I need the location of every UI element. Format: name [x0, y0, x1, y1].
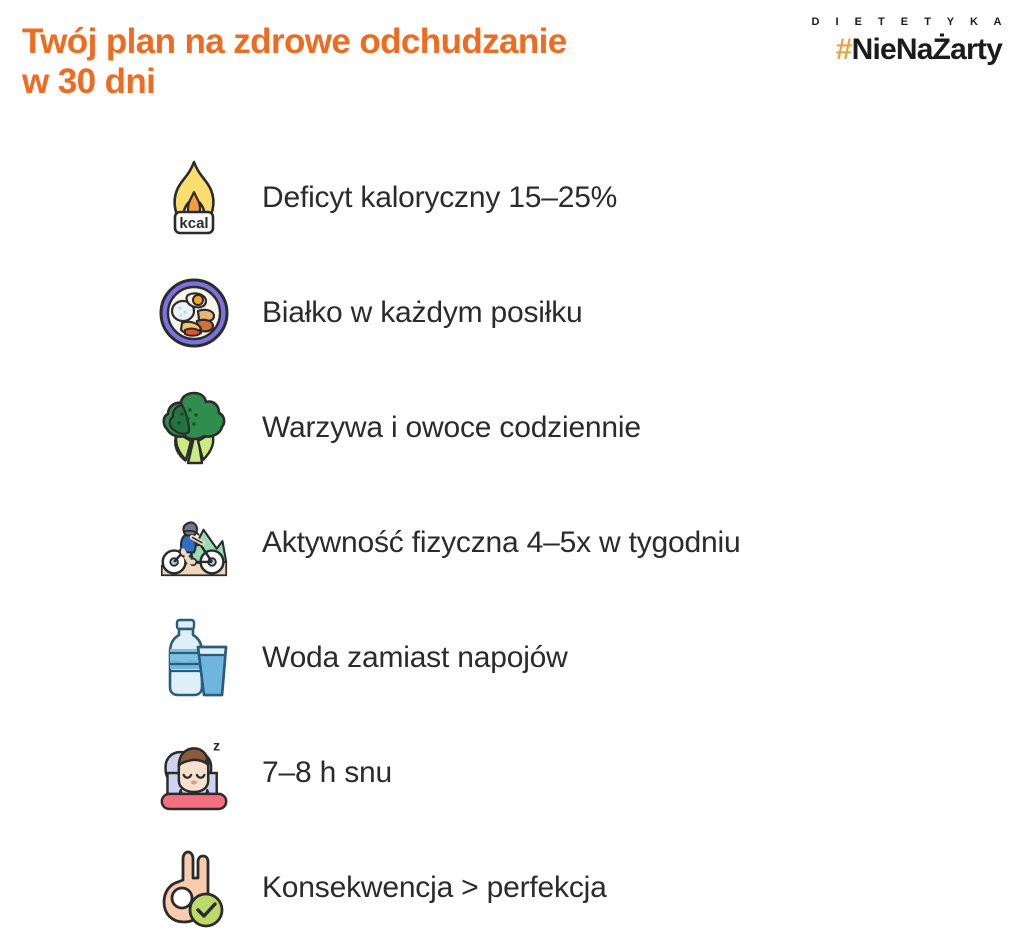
list-item: z z 7–8 h snu — [0, 715, 1024, 830]
ok-hand-check-icon — [158, 847, 230, 929]
sleep-z-large-label: z — [213, 738, 220, 754]
page-title-line-1: Twój plan na zdrowe odchudzanie — [22, 22, 722, 62]
brand-logo-wordmark: NieNaŻarty — [852, 33, 1002, 66]
flame-kcal-icon: kcal — [158, 157, 230, 239]
sleeping-person-icon: z z — [158, 732, 230, 814]
page-header: Twój plan na zdrowe odchudzanie w 30 dni… — [0, 0, 1024, 130]
list-item: kcal Deficyt kaloryczny 15–25% — [0, 140, 1024, 255]
sleep-z-small-label: z — [204, 753, 209, 764]
flame-icon-label: kcal — [179, 215, 208, 232]
brand-logo: D I E T E T Y K A #NieNaŻarty — [812, 16, 1002, 67]
list-item-label: Warzywa i owoce codziennie — [262, 410, 641, 446]
list-item-label: 7–8 h snu — [262, 755, 392, 791]
mountain-biking-icon — [158, 502, 230, 584]
list-item-label: Aktywność fizyczna 4–5x w tygodniu — [262, 525, 740, 561]
list-item: Białko w każdym posiłku — [0, 255, 1024, 370]
list-item-label: Woda zamiast napojów — [262, 640, 568, 676]
list-item-label: Konsekwencja > perfekcja — [262, 870, 607, 906]
list-item: Warzywa i owoce codziennie — [0, 370, 1024, 485]
hash-icon: # — [836, 33, 852, 66]
list-item-label: Białko w każdym posiłku — [262, 295, 583, 331]
plate-of-food-icon — [158, 272, 230, 354]
brand-logo-name: #NieNaŻarty — [812, 33, 1002, 67]
list-item-label: Deficyt kaloryczny 15–25% — [262, 180, 617, 216]
list-item: Aktywność fizyczna 4–5x w tygodniu — [0, 485, 1024, 600]
tips-list: kcal Deficyt kaloryczny 15–25% Białko w … — [0, 140, 1024, 945]
page-title-line-2: w 30 dni — [22, 62, 722, 102]
list-item: Woda zamiast napojów — [0, 600, 1024, 715]
water-bottle-glass-icon — [158, 617, 230, 699]
broccoli-icon — [158, 387, 230, 469]
brand-logo-kicker: D I E T E T Y K A — [812, 16, 1008, 28]
list-item: Konsekwencja > perfekcja — [0, 830, 1024, 945]
page-title: Twój plan na zdrowe odchudzanie w 30 dni — [22, 22, 722, 102]
